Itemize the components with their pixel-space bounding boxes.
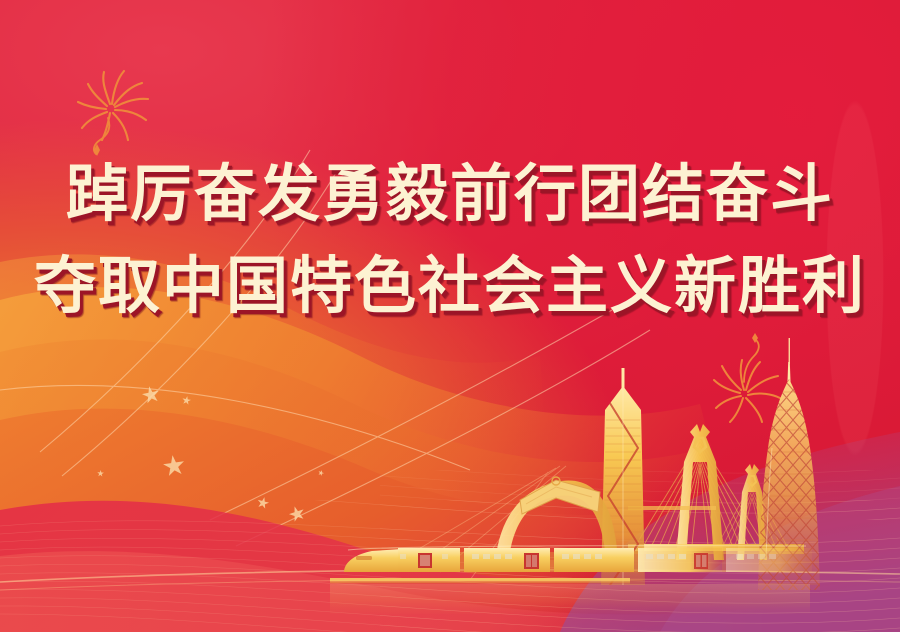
headline-line-1: 踔厉奋发勇毅前行团结奋斗: [0, 152, 900, 236]
high-speed-train-graphic: [330, 546, 812, 584]
headline-block: 踔厉奋发勇毅前行团结奋斗 夺取中国特色社会主义新胜利: [0, 152, 900, 328]
poster-canvas: 踔厉奋发勇毅前行团结奋斗 夺取中国特色社会主义新胜利: [0, 0, 900, 632]
headline-line-2: 夺取中国特色社会主义新胜利: [0, 244, 900, 328]
